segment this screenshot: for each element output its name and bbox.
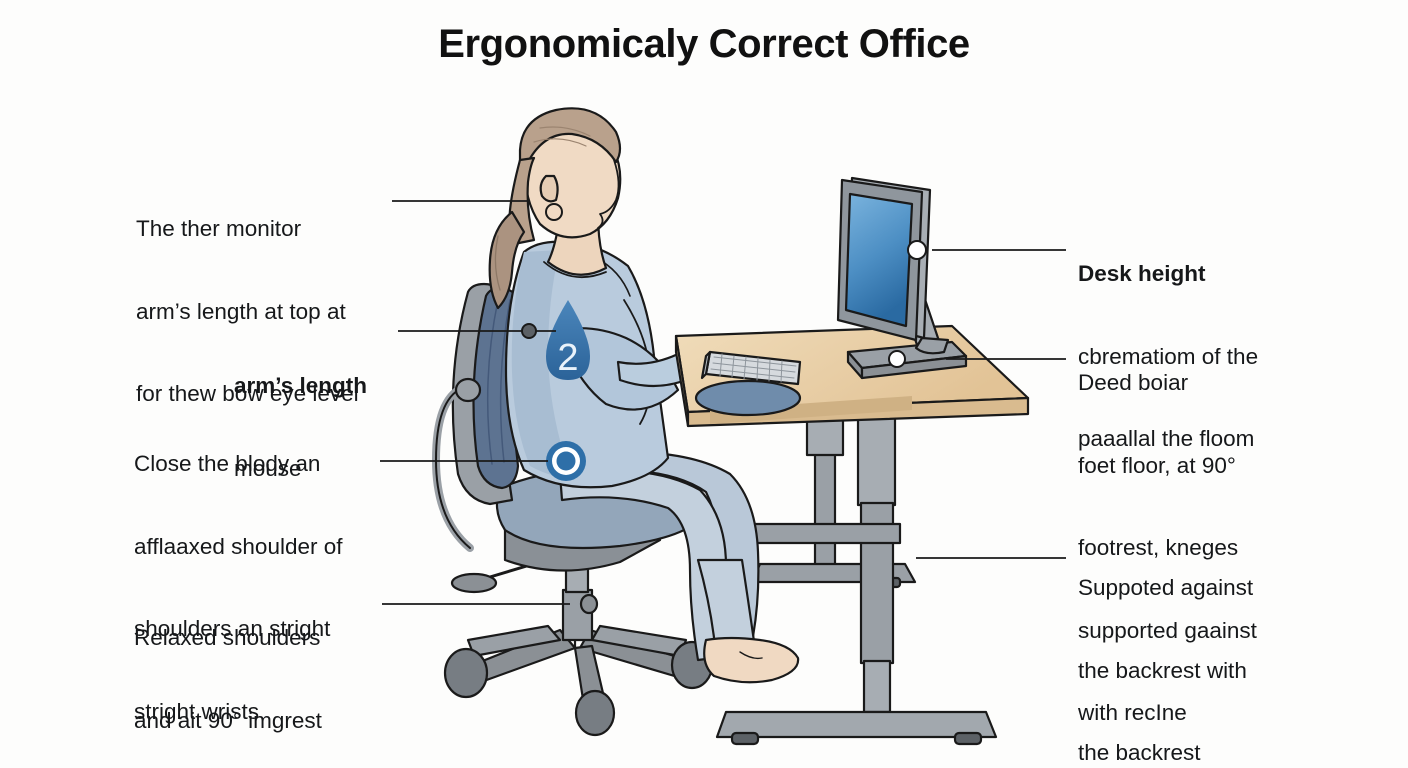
backrest-note-line-1: Suppoted against xyxy=(1078,574,1253,602)
leader-endpoint-feet xyxy=(889,351,905,367)
droplet-marker-number: 2 xyxy=(557,337,578,379)
ergonomics-diagram-canvas: Ergonomicaly Correct Office xyxy=(0,0,1408,768)
monitor-note-line-1: The ther monitor xyxy=(136,215,359,243)
relaxed-shoulders-note-line-2: and ait 90° imgrest xyxy=(134,707,338,735)
leader-endpoint-arms-length xyxy=(522,324,536,338)
body-posture-note-line-2: afflaaxed shoulder of xyxy=(134,533,343,561)
backrest-note-line-2: the backrest with xyxy=(1078,657,1253,685)
relaxed-shoulders-note-line-1: Relaxed shoulders xyxy=(134,624,338,652)
lumbar-ring-marker xyxy=(546,441,586,481)
feet-note-line-2: foet floor, at 90° xyxy=(1078,452,1257,480)
backrest-note: Suppoted against the backrest with the b… xyxy=(1078,519,1253,768)
desk-height-note-heading: Desk height xyxy=(1078,260,1258,288)
feet-note-line-1: Deed boiar xyxy=(1078,369,1257,397)
leader-endpoint-desk-height xyxy=(908,241,926,259)
relaxed-shoulders-note: Relaxed shoulders and ait 90° imgrest co… xyxy=(134,569,338,768)
body-posture-note-line-1: Close the blody an xyxy=(134,450,343,478)
backrest-note-line-3: the backrest xyxy=(1078,739,1253,767)
